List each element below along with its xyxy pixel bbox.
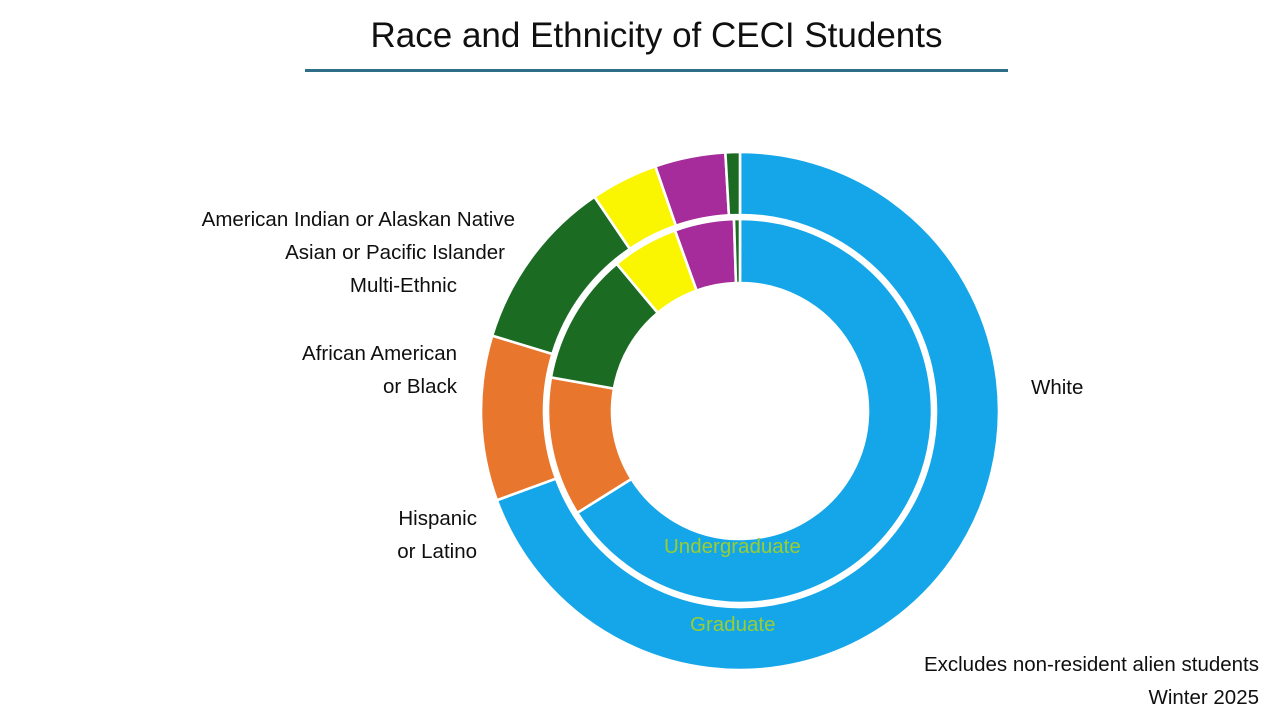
ring-label-graduate: Graduate — [690, 612, 775, 638]
slide-canvas: Race and Ethnicity of CECI Students Amer… — [0, 0, 1280, 720]
category-label-asian-pacific-islander: Asian or Pacific Islander — [285, 236, 505, 269]
category-label-african-american-line2: or Black — [197, 370, 457, 403]
donut-slice-graduate-american-indian-or-alaskan-native[interactable] — [725, 152, 740, 215]
category-label-african-american-or-black: African American or Black — [197, 337, 457, 403]
category-label-hispanic-line1: Hispanic — [257, 502, 477, 535]
donut-chart-svg — [0, 0, 1280, 720]
category-label-hispanic-line2: or Latino — [257, 535, 477, 568]
footnote-line-exclusion: Excludes non-resident alien students — [924, 648, 1259, 681]
category-label-american-indian: American Indian or Alaskan Native — [202, 203, 515, 236]
ring-label-undergraduate: Undergraduate — [664, 534, 801, 560]
category-label-multi-ethnic: Multi-Ethnic — [350, 269, 457, 302]
footnote-block: Excludes non-resident alien students Win… — [924, 648, 1259, 714]
category-label-hispanic-or-latino: Hispanic or Latino — [257, 502, 477, 568]
nested-donut-chart: American Indian or Alaskan Native Asian … — [0, 0, 1280, 720]
footnote-line-term: Winter 2025 — [924, 681, 1259, 714]
donut-slice-graduate-hispanic-or-latino[interactable] — [481, 336, 556, 501]
category-label-african-american-line1: African American — [197, 337, 457, 370]
category-label-white: White — [1031, 371, 1083, 404]
donut-slice-undergraduate-american-indian-or-alaskan-native[interactable] — [734, 219, 740, 283]
